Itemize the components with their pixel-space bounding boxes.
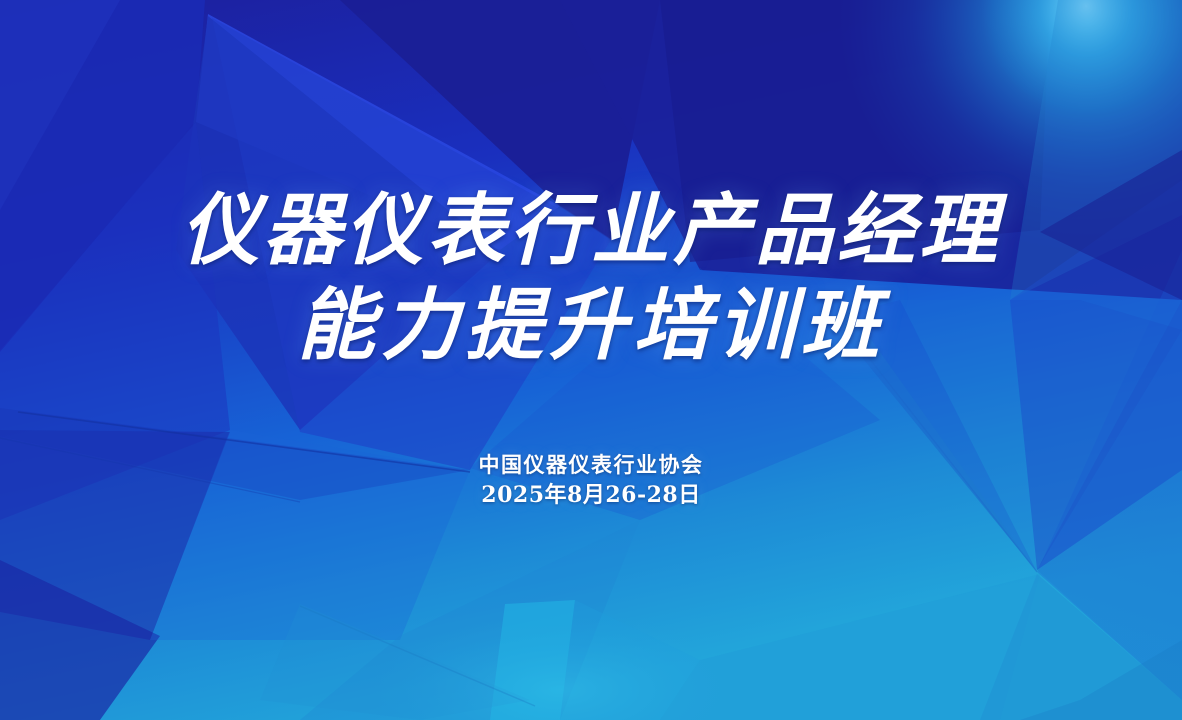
background-polygon-art: [0, 0, 1182, 720]
poster-canvas: 仪器仪表行业产品经理 能力提升培训班 中国仪器仪表行业协会 2025年8月26-…: [0, 0, 1182, 720]
